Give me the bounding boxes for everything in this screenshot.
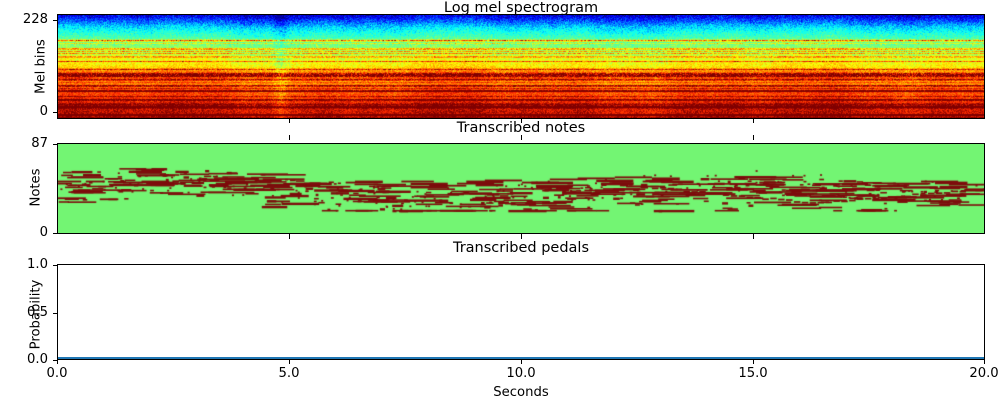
spectrogram-ytick-min: 0: [2, 104, 48, 119]
notes-xtick-bottom-15: [753, 234, 754, 239]
notes-xtick-bottom-5: [289, 234, 290, 239]
pedals-ytick-1: 1.0: [2, 257, 48, 272]
notes-ytick-max: 87: [2, 136, 48, 151]
pedals-ytick-05: 0.5: [2, 305, 48, 320]
spectrogram-ytick-max: 228: [2, 12, 48, 27]
x-axis-label: Seconds: [57, 385, 985, 400]
spectrogram-image: [58, 15, 985, 119]
xtick-mark-5: [289, 360, 290, 364]
spectrogram-plot-area: [57, 14, 985, 119]
notes-xtick-top-15: [753, 135, 754, 140]
xtick-mark-10: [521, 360, 522, 364]
pedals-plot-area: [57, 264, 985, 360]
notes-ytick-min: 0: [2, 225, 48, 240]
notes-xtick-top-5: [289, 135, 290, 140]
xtick-mark-20: [984, 360, 985, 364]
notes-xtick-top-10: [521, 135, 522, 140]
xtick-label-10: 10.0: [491, 366, 551, 381]
notes-xtick-bottom-10: [521, 234, 522, 239]
xtick-label-0: 0.0: [27, 366, 87, 381]
xtick-mark-0: [57, 360, 58, 364]
xtick-label-5: 5.0: [259, 366, 319, 381]
figure-canvas: Log mel spectrogram Mel bins 228 0 Trans…: [0, 0, 1000, 400]
xtick-label-15: 15.0: [723, 366, 783, 381]
notes-plot-area: [57, 143, 985, 234]
pedals-ytick-0: 0.0: [2, 352, 48, 367]
xtick-mark-15: [753, 360, 754, 364]
notes-piano-roll: [58, 144, 985, 234]
xtick-label-20: 20.0: [954, 366, 1000, 381]
pedals-title: Transcribed pedals: [57, 240, 985, 257]
